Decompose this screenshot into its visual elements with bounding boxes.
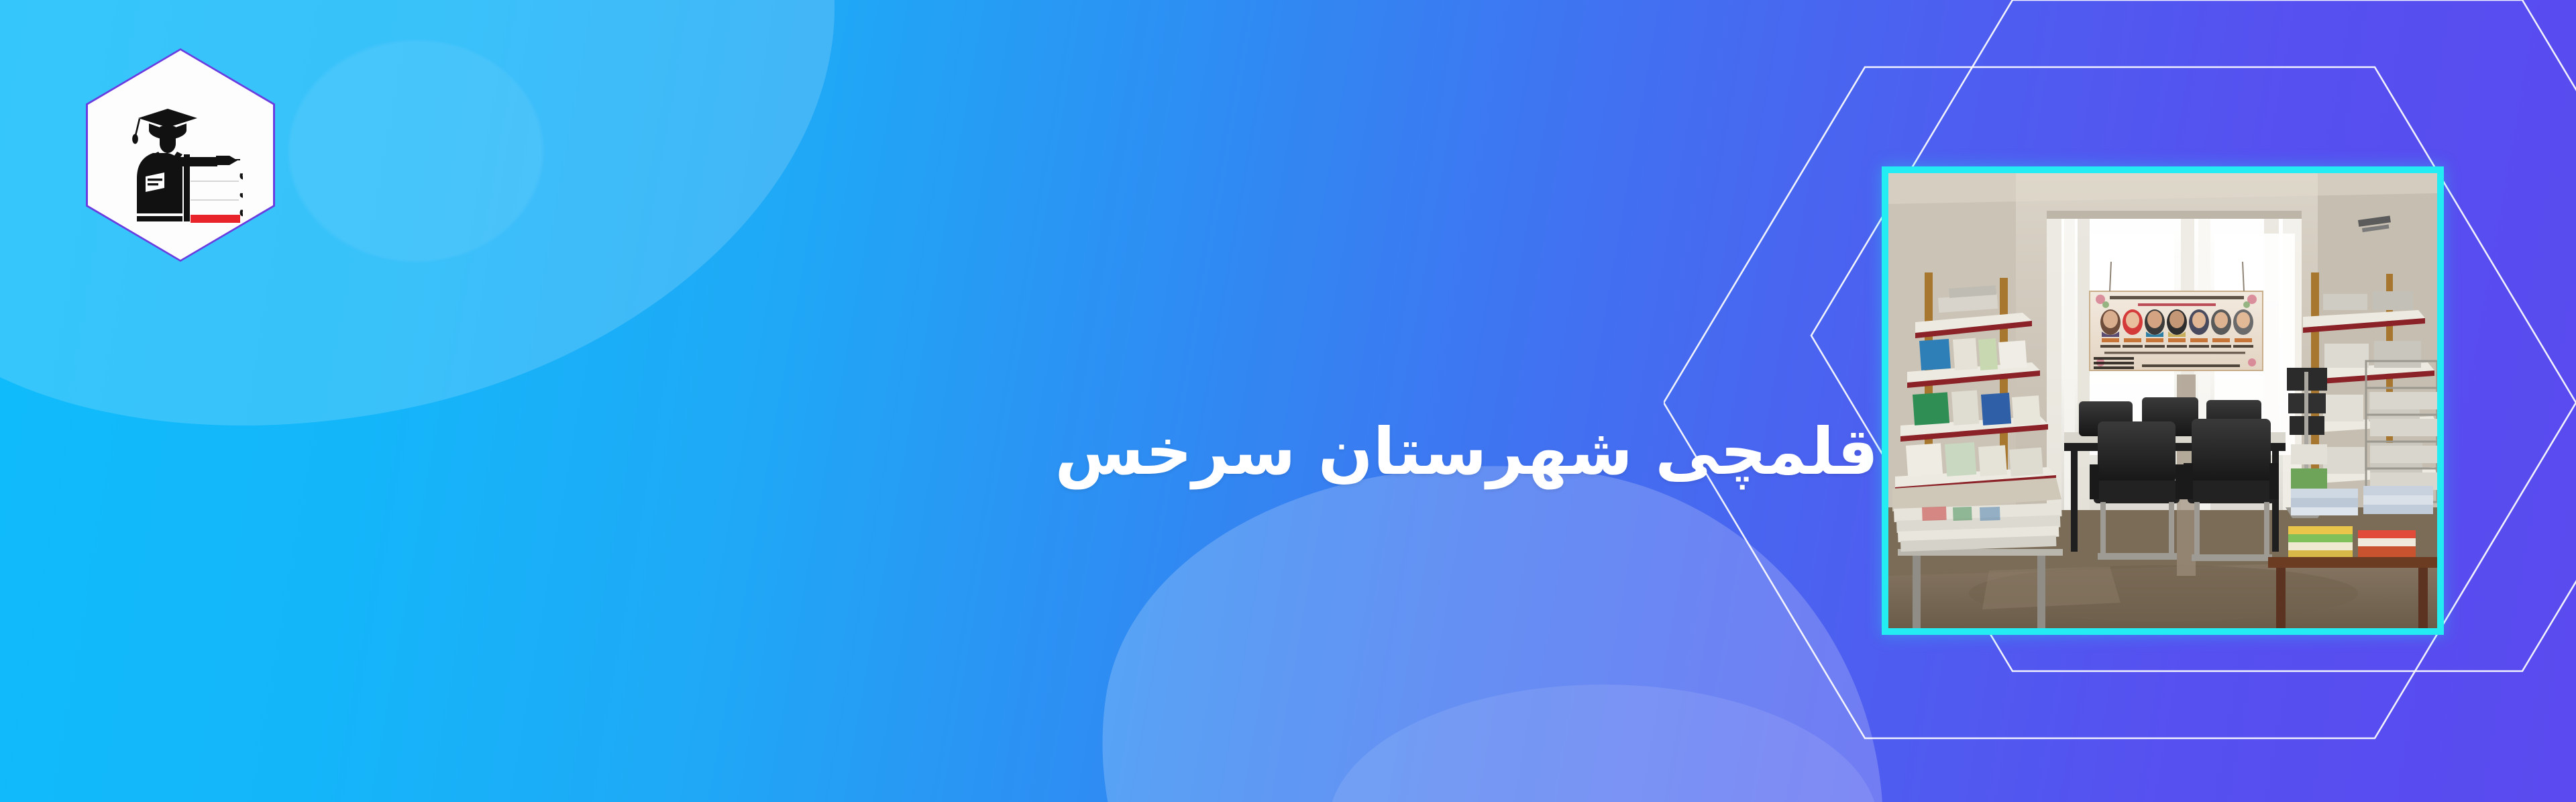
photo-frame[interactable] [1882, 166, 2444, 635]
svg-text:آموزش: آموزش [239, 197, 243, 217]
organization-logo[interactable]: کانون فرهنگی آموزش قلم‌چی [86, 48, 275, 262]
blob-soft-highlight [288, 40, 543, 262]
wall-banner [2090, 291, 2263, 370]
svg-text:کانون: کانون [239, 162, 243, 181]
banner-root: کانون فرهنگی آموزش قلم‌چی آموزشگاه کانون… [0, 0, 2576, 802]
svg-text:فرهنگی: فرهنگی [239, 181, 243, 200]
svg-text:قلم‌چی: قلم‌چی [237, 215, 243, 223]
classroom-study-room-photo [1888, 173, 2437, 628]
graduate-pointing-icon: کانون فرهنگی آموزش قلم‌چی [118, 95, 243, 223]
blob-bottom-fade [1328, 685, 1878, 802]
